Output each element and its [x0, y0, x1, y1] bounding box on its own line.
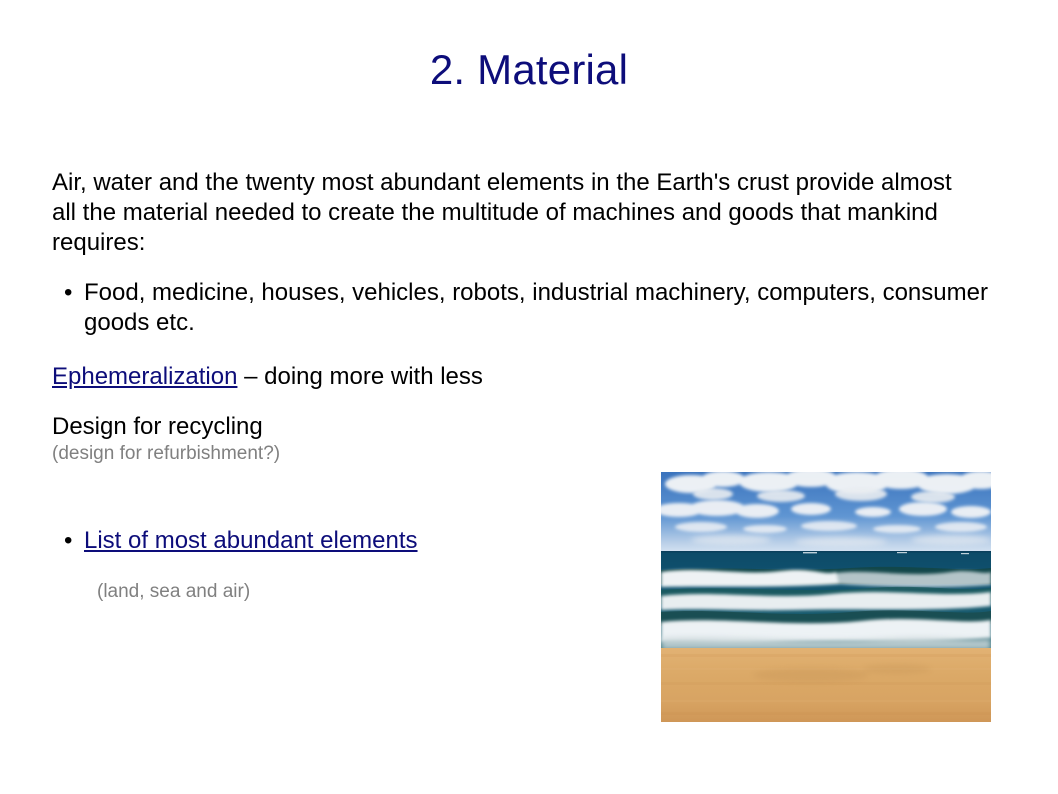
ephemeralization-rest: – doing more with less: [237, 363, 482, 390]
abundant-elements-link[interactable]: List of most abundant elements: [84, 527, 418, 554]
page-title: 2. Material: [0, 45, 1058, 95]
bullet-icon: •: [52, 278, 84, 308]
features-bullet-list: • Food, medicine, houses, vehicles, robo…: [52, 278, 1002, 338]
list-item: • Food, medicine, houses, vehicles, robo…: [52, 278, 1002, 338]
list-item-label: Food, medicine, houses, vehicles, robots…: [84, 278, 1002, 338]
ephemeralization-line: Ephemeralization – doing more with less: [52, 362, 1002, 392]
design-for-recycling-heading: Design for recycling: [52, 412, 1002, 442]
design-refurbishment-note: (design for refurbishment?): [52, 442, 1002, 466]
intro-paragraph: Air, water and the twenty most abundant …: [52, 168, 982, 258]
beach-photo-graphic: [661, 472, 991, 722]
bullet-icon: •: [52, 526, 84, 556]
ephemeralization-link[interactable]: Ephemeralization: [52, 363, 237, 390]
beach-ocean-photo: [661, 472, 991, 722]
slide-canvas: 2. Material Air, water and the twenty mo…: [0, 0, 1058, 794]
